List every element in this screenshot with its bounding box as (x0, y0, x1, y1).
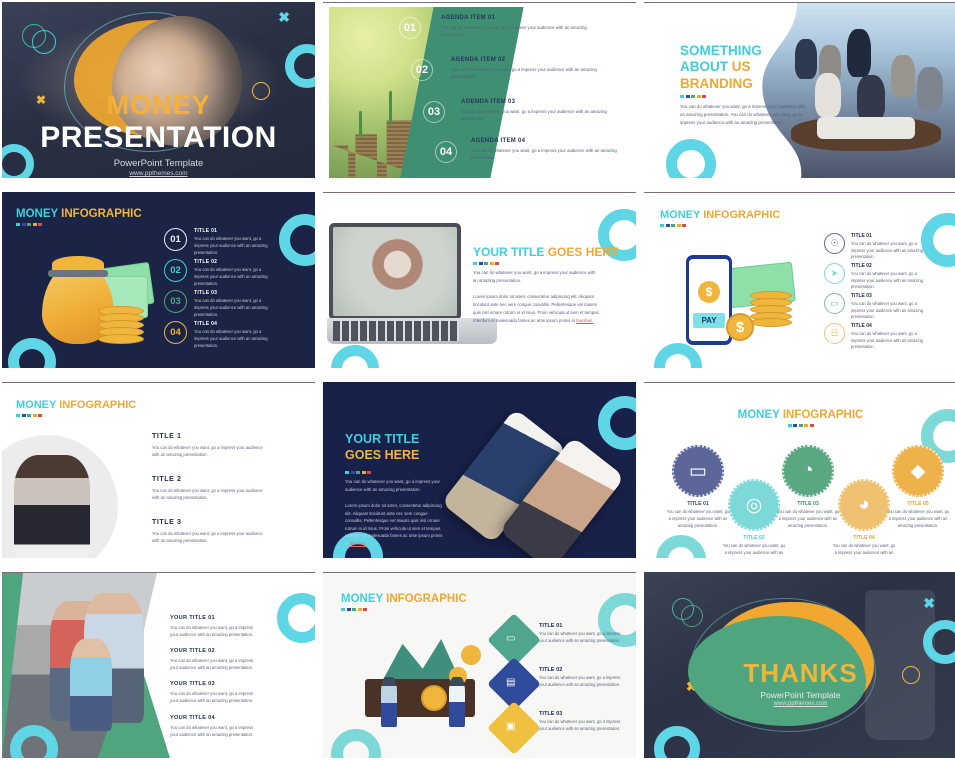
item-title-01: TITLE 01 (851, 233, 927, 239)
heading-money: MONEY (738, 409, 780, 421)
list-item-01[interactable]: TITLE 1 You can do whatever you want, go… (152, 433, 264, 458)
wallet-icon: ▭ (824, 293, 845, 314)
agenda-body-04: You can do whatever you want, go a impre… (471, 147, 623, 162)
faucibus-link[interactable]: faucibus. (350, 541, 367, 546)
girl-with-tablet-photo (14, 455, 90, 558)
heading-infographic: INFOGRAPHIC (59, 399, 136, 411)
heading-infographic: INFOGRAPHIC (783, 409, 864, 421)
smartphone-illustration: $ PAY (686, 255, 732, 345)
pay-button[interactable]: PAY (693, 313, 725, 328)
item-title-05: TITLE 05 (886, 501, 950, 507)
number-circle-02: 02 (164, 259, 187, 282)
laptop-heading: YOUR TITLE GOES HERE (473, 245, 619, 259)
phones-heading: YOUR TITLE GOES HERE (345, 432, 445, 463)
cyan-ring-bottom-deco (656, 535, 706, 558)
item-body-02: You can do whatever you want, go a impre… (170, 657, 262, 671)
item-title-03: TITLE 03 (194, 290, 272, 296)
agenda-body-01: You can do whatever you want, go a impre… (441, 24, 593, 39)
slide-thumbnail-laptop[interactable]: YOUR TITLE GOES HERE You can do whatever… (323, 192, 636, 368)
faucibus-link[interactable]: faucibus. (576, 318, 593, 323)
infographic-heading: MONEY INFOGRAPHIC (16, 208, 142, 220)
list-item-01[interactable]: TITLE 01 You can do whatever you want, g… (539, 623, 627, 645)
cyan-ring-right-deco (598, 396, 636, 450)
heading-money: MONEY (660, 209, 700, 221)
item-title-04: TITLE 04 (832, 535, 896, 541)
item-title-02: TITLE 02 (722, 535, 786, 541)
slide-thumbnail-circles[interactable]: MONEY INFOGRAPHIC ▭ TITLE 01 You can do … (644, 382, 955, 558)
cyan-ring-bottom-deco (331, 345, 379, 368)
banknote-icon: ▤ (506, 677, 515, 688)
agenda-number-01: 01 (399, 17, 421, 39)
item-body-02: You can do whatever you want, go a impre… (152, 487, 264, 501)
item-body-02: You can do whatever you want, go a impre… (851, 271, 927, 291)
item-title-03: TITLE 03 (776, 501, 840, 507)
agenda-item-03: AGENDA ITEM 03 You can do whatever you w… (461, 99, 613, 123)
list-item-01[interactable]: 01 TITLE 01 You can do whatever you want… (164, 228, 272, 257)
color-dots-deco (16, 223, 142, 226)
item-title-02: TITLE 02 (194, 259, 272, 265)
item-title-01: TITLE 01 (666, 501, 730, 507)
heading-goes-here: GOES HERE (548, 245, 619, 259)
dollar-coin-icon: $ (698, 281, 720, 303)
thanks-url[interactable]: www.ppthemes.com (644, 701, 955, 707)
circle-node-05[interactable]: ◆ TITLE 05 You can do whatever you want,… (886, 445, 950, 530)
slide-thumbnail-phone-pay[interactable]: MONEY INFOGRAPHIC $ PAY $ ☉ TITLE 01 You… (644, 192, 955, 368)
heading-infographic: INFOGRAPHIC (386, 593, 467, 605)
piggybank-icon: ◔ (782, 445, 834, 497)
item-body-01: You can do whatever you want, go a impre… (194, 236, 272, 257)
item-body-03: You can do whatever you want, go a impre… (170, 690, 262, 704)
send-icon: ➤ (824, 263, 845, 284)
item-title-02: YOUR TITLE 02 (170, 648, 262, 654)
title-presentation-text: PRESENTATION (2, 121, 315, 155)
item-title-02: TITLE 2 (152, 476, 264, 483)
item-title-01: TITLE 1 (152, 433, 264, 440)
number-circle-01: 01 (164, 228, 187, 251)
item-body-01: You can do whatever you want, go a impre… (152, 444, 264, 458)
safe-icon: ▣ (506, 721, 515, 732)
agenda-item-02: AGENDA ITEM 02 You can do whatever you w… (451, 57, 603, 81)
card-icon: ▭ (506, 633, 515, 644)
item-title-03: TITLE 3 (152, 519, 264, 526)
about-body: You can do whatever you want, go a impre… (680, 103, 810, 126)
sprout-deco-1 (359, 111, 362, 137)
list-item-03[interactable]: TITLE 03 You can do whatever you want, g… (539, 711, 627, 733)
list-item-04[interactable]: 04 TITLE 04 You can do whatever you want… (164, 321, 272, 350)
slide-thumbnail-wallet[interactable]: MONEY INFOGRAPHIC ▭ ▤ ▣ TITLE 01 You can… (323, 572, 636, 758)
item-body-03: You can do whatever you want, go a impre… (539, 719, 627, 733)
large-dollar-coin-icon: $ (726, 313, 754, 341)
heading-infographic: INFOGRAPHIC (61, 208, 142, 220)
agenda-title-01: AGENDA ITEM 01 (441, 15, 593, 21)
agenda-item-01: AGENDA ITEM 01 You can do whatever you w… (441, 15, 593, 39)
item-title-03: TITLE 03 (539, 711, 627, 717)
sprout-deco-2 (389, 91, 392, 125)
about-heading-line2a: ABOUT (680, 59, 728, 74)
list-item-03[interactable]: 03 TITLE 03 You can do whatever you want… (164, 290, 272, 319)
money-bag-icon: ◕ (838, 479, 890, 531)
coin-icon (421, 685, 447, 711)
person-figure-left (381, 677, 397, 727)
item-title-03: YOUR TITLE 03 (170, 681, 262, 687)
person-figure-right (449, 677, 465, 727)
diamond-icon: ◆ (892, 445, 944, 497)
item-body-04: You can do whatever you want, go a impre… (832, 543, 896, 558)
infographic-heading: MONEY INFOGRAPHIC (660, 209, 780, 221)
agenda-title-03: AGENDA ITEM 03 (461, 99, 613, 105)
coin-icon-2 (461, 645, 481, 665)
agenda-body-02: You can do whatever you want, go a impre… (451, 66, 603, 81)
list-item-03[interactable]: YOUR TITLE 03 You can do whatever you wa… (170, 681, 262, 704)
laptop-illustration (327, 223, 497, 343)
title-url[interactable]: www.ppthemes.com (2, 170, 315, 177)
coins-icon: ◎ (728, 479, 780, 531)
color-dots-deco (680, 95, 810, 98)
item-title-04: TITLE 04 (194, 321, 272, 327)
coin-stack-icon (750, 291, 792, 327)
item-body-02: You can do whatever you want, go a impre… (539, 675, 627, 689)
heading-infographic: INFOGRAPHIC (703, 209, 780, 221)
agenda-title-04: AGENDA ITEM 04 (471, 138, 623, 144)
list-item-02[interactable]: ➤ TITLE 02 You can do whatever you want,… (824, 263, 927, 291)
slide-thumbnail-title[interactable]: ✖ ✖ ✖ MONEY PRESENTATION PowerPoint Temp… (2, 2, 315, 178)
heading-money: MONEY (16, 208, 58, 220)
list-item-02[interactable]: 02 TITLE 02 You can do whatever you want… (164, 259, 272, 288)
item-body-01: You can do whatever you want, go a impre… (851, 241, 927, 261)
about-heading-line2b: US (732, 59, 751, 74)
about-heading-line3: BRANDING (680, 76, 753, 91)
list-item-03[interactable]: ▭ TITLE 03 You can do whatever you want,… (824, 293, 927, 321)
laptop-lorem: Lorem ipsum dolor sit amet, consectetur … (473, 293, 601, 324)
item-body-02: You can do whatever you want, go a impre… (194, 267, 272, 288)
circle-node-01[interactable]: ▭ TITLE 01 You can do whatever you want,… (666, 445, 730, 530)
cyan-ring-bottom-deco (654, 343, 702, 368)
item-body-05: You can do whatever you want, go a impre… (886, 509, 950, 530)
phones-lorem: Lorem ipsum dolor sit amet, consectetur … (345, 502, 445, 547)
infographic-heading: MONEY INFOGRAPHIC (341, 593, 467, 605)
title-subtitle: PowerPoint Template (2, 158, 315, 169)
item-body-03: You can do whatever you want, go a impre… (776, 509, 840, 530)
color-dots-deco (786, 424, 816, 427)
cyan-ring-bottom-deco (331, 729, 381, 758)
item-title-01: YOUR TITLE 01 (170, 615, 262, 621)
infographic-heading: MONEY INFOGRAPHIC (16, 399, 136, 411)
title-money-text: MONEY (2, 90, 315, 121)
item-title-01: TITLE 01 (539, 623, 627, 629)
list-item-02[interactable]: YOUR TITLE 02 You can do whatever you wa… (170, 648, 262, 671)
color-dots-deco (345, 471, 445, 474)
circle-node-03[interactable]: ◔ TITLE 03 You can do whatever you want,… (776, 445, 840, 530)
item-body-01: You can do whatever you want, go a impre… (666, 509, 730, 530)
teal-double-ring-deco-2 (32, 30, 56, 54)
list-item-01[interactable]: YOUR TITLE 01 You can do whatever you wa… (170, 615, 262, 638)
cyan-x-deco: ✖ (923, 596, 935, 610)
thanks-subtitle: PowerPoint Template (644, 690, 955, 700)
money-bag-illustration (24, 240, 159, 348)
item-body-04: You can do whatever you want, go a impre… (194, 329, 272, 350)
item-title-02: TITLE 02 (851, 263, 927, 269)
item-title-04: YOUR TITLE 04 (170, 715, 262, 721)
number-circle-04: 04 (164, 321, 187, 344)
agenda-item-04: AGENDA ITEM 04 You can do whatever you w… (471, 138, 623, 162)
item-title-03: TITLE 03 (851, 293, 927, 299)
about-heading: SOMETHING ABOUT US BRANDING (680, 43, 810, 92)
list-item-01[interactable]: ☉ TITLE 01 You can do whatever you want,… (824, 233, 927, 261)
item-body-01: You can do whatever you want, go a impre… (170, 624, 262, 638)
color-dots-deco (16, 414, 136, 417)
slide-thumbnail-phones-dark[interactable]: YOUR TITLE GOES HERE You can do whatever… (323, 382, 636, 558)
item-body-04: You can do whatever you want, go a impre… (851, 331, 927, 351)
laptop-keyboard (333, 321, 459, 341)
infographic-heading: MONEY INFOGRAPHIC (644, 409, 955, 421)
heading-goes-here: GOES HERE (345, 448, 419, 462)
slide-thumbnail-thanks[interactable]: ✖ ✖ ✖ THANKS PowerPoint Template www.ppt… (644, 572, 955, 758)
cash-icon: ☷ (824, 323, 845, 344)
list-item-03[interactable]: TITLE 3 You can do whatever you want, go… (152, 519, 264, 544)
item-title-02: TITLE 02 (539, 667, 627, 673)
slide-thumbnail-dark-infographic[interactable]: MONEY INFOGRAPHIC 01 TITLE 01 You can do… (2, 192, 315, 368)
wallet-icon: ▭ (672, 445, 724, 497)
slide-thumbnail-agenda[interactable]: 01 02 03 04 AGENDA ITEM 01 You can do wh… (323, 2, 636, 178)
color-dots-deco (341, 608, 467, 611)
money-bag-band (48, 270, 108, 277)
laptop-body: You can do whatever you want, go a impre… (473, 269, 601, 284)
about-heading-line1: SOMETHING (680, 43, 762, 58)
item-body-01: You can do whatever you want, go a impre… (539, 631, 627, 645)
list-item-02[interactable]: TITLE 2 You can do whatever you want, go… (152, 476, 264, 501)
cyan-x-deco: ✖ (278, 10, 290, 24)
heading-money: MONEY (16, 399, 56, 411)
list-item-04[interactable]: ☷ TITLE 04 You can do whatever you want,… (824, 323, 927, 351)
slide-thumbnail-grid: ✖ ✖ ✖ MONEY PRESENTATION PowerPoint Temp… (0, 0, 955, 758)
heading-your-title: YOUR TITLE (473, 245, 544, 259)
cyan-ring-right-deco (279, 214, 315, 266)
color-dots-deco (660, 224, 780, 227)
agenda-number-04: 04 (435, 141, 457, 163)
item-title-01: TITLE 01 (194, 228, 272, 234)
item-body-03: You can do whatever you want, go a impre… (152, 530, 264, 544)
agenda-number-02: 02 (411, 59, 433, 81)
item-body-04: You can do whatever you want, go a impre… (170, 724, 262, 738)
list-item-04[interactable]: YOUR TITLE 04 You can do whatever you wa… (170, 715, 262, 738)
laptop-screen-photo (333, 227, 457, 316)
cart-icon: ☉ (824, 233, 845, 254)
slide-thumbnail-family[interactable]: YOUR TITLE 01 You can do whatever you wa… (2, 572, 315, 758)
thanks-title: THANKS (644, 658, 955, 689)
teal-double-ring-deco-2 (681, 605, 703, 627)
agenda-body-03: You can do whatever you want, go a impre… (461, 108, 613, 123)
coin-stack-icon (98, 306, 144, 344)
item-body-03: You can do whatever you want, go a impre… (851, 301, 927, 321)
item-body-02: You can do whatever you want, go a impre… (722, 543, 786, 558)
family-child-figure (70, 639, 112, 731)
phone-screen: $ PAY (689, 259, 729, 341)
laptop-lid (329, 223, 461, 320)
number-circle-03: 03 (164, 290, 187, 313)
slide-thumbnail-girl-tablet[interactable]: MONEY INFOGRAPHIC TITLE 1 You can do wha… (2, 382, 315, 558)
heading-your-title: YOUR TITLE (345, 432, 419, 446)
agenda-number-03: 03 (423, 101, 445, 123)
heading-money: MONEY (341, 593, 383, 605)
list-item-02[interactable]: TITLE 02 You can do whatever you want, g… (539, 667, 627, 689)
cyan-arc-deco (666, 139, 716, 178)
phones-body: You can do whatever you want, go a impre… (345, 478, 445, 493)
item-body-03: You can do whatever you want, go a impre… (194, 298, 272, 319)
color-dots-deco (473, 262, 619, 265)
slide-thumbnail-about[interactable]: SOMETHING ABOUT US BRANDING You can do w… (644, 2, 955, 178)
item-title-04: TITLE 04 (851, 323, 927, 329)
agenda-title-02: AGENDA ITEM 02 (451, 57, 603, 63)
cyan-ring-right-deco (277, 593, 315, 643)
